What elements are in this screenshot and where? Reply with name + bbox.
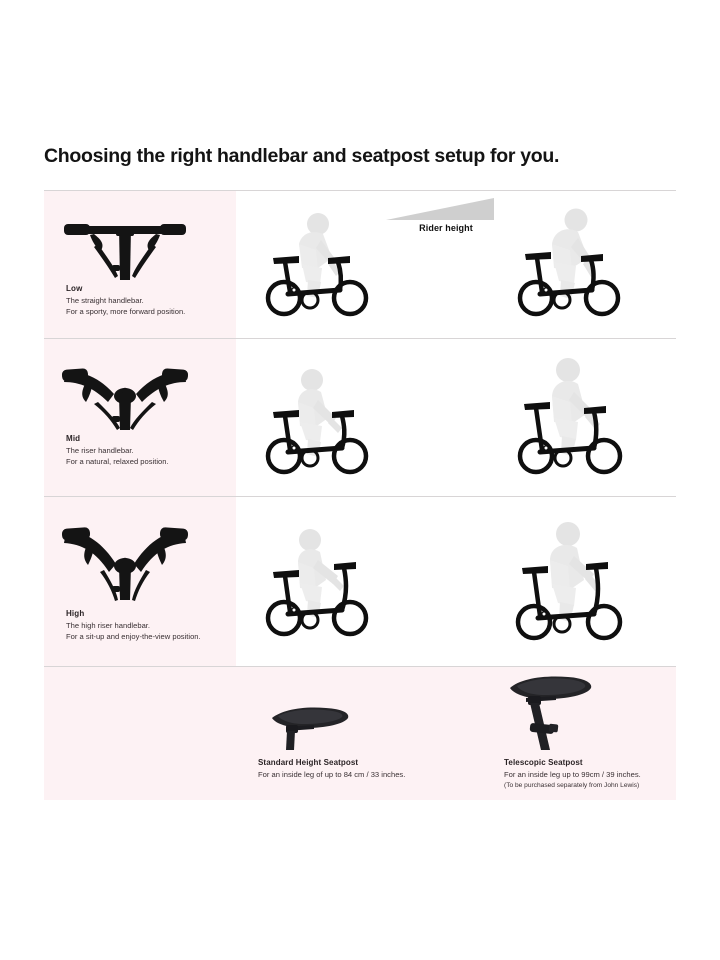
handlebar-desc-high-line1: The high riser handlebar. [66,620,241,631]
handlebar-name-low: Low [66,284,241,293]
rider-height-indicator: Rider height [386,195,506,241]
rider-high-short [266,520,372,647]
standard-seatpost-icon [268,702,360,755]
handlebar-name-mid: Mid [66,434,241,443]
rider-silhouette [550,522,600,622]
rider-low-short [266,206,366,325]
rider-silhouette [552,358,600,456]
seatpost-note-telescopic: (To be purchased separately from John Le… [504,781,720,791]
straight-handlebar-icon [60,214,190,287]
rider-silhouette [298,529,344,618]
seatpost-desc-standard: For an inside leg of up to 84 cm / 33 in… [258,769,478,780]
high-riser-handlebar-icon [60,516,190,607]
page-title: Choosing the right handlebar and seatpos… [44,145,684,168]
handlebar-desc-high-line2: For a sit-up and enjoy-the-view position… [66,631,241,642]
handlebar-desc-low-line2: For a sporty, more forward position. [66,306,241,317]
rider-high-tall [514,512,626,649]
rider-mid-short [266,362,370,485]
handlebar-name-high: High [66,609,241,618]
seatpost-desc-telescopic: For an inside leg up to 99cm / 39 inches… [504,769,720,780]
rider-silhouette [299,213,340,298]
rider-mid-tall [516,350,624,485]
rider-height-wedge-icon [386,195,506,221]
telescopic-seatpost-icon [504,672,600,757]
handlebar-desc-low-line1: The straight handlebar. [66,295,241,306]
riser-handlebar-icon [60,358,190,437]
rider-height-label: Rider height [386,223,506,233]
handlebar-caption-low: Low The straight handlebar. For a sporty… [66,284,241,318]
handlebar-desc-mid-line1: The riser handlebar. [66,445,241,456]
rider-low-tall [516,200,620,325]
seatpost-name-standard: Standard Height Seatpost [258,758,478,767]
handlebar-caption-high: High The high riser handlebar. For a sit… [66,609,241,643]
seatpost-caption-telescopic: Telescopic Seatpost For an inside leg up… [504,758,720,791]
seatpost-caption-standard: Standard Height Seatpost For an inside l… [258,758,478,780]
handlebar-desc-mid-line2: For a natural, relaxed position. [66,456,241,467]
seatpost-name-telescopic: Telescopic Seatpost [504,758,720,767]
infographic-page: Choosing the right handlebar and seatpos… [0,0,720,960]
handlebar-caption-mid: Mid The riser handlebar. For a natural, … [66,434,241,468]
